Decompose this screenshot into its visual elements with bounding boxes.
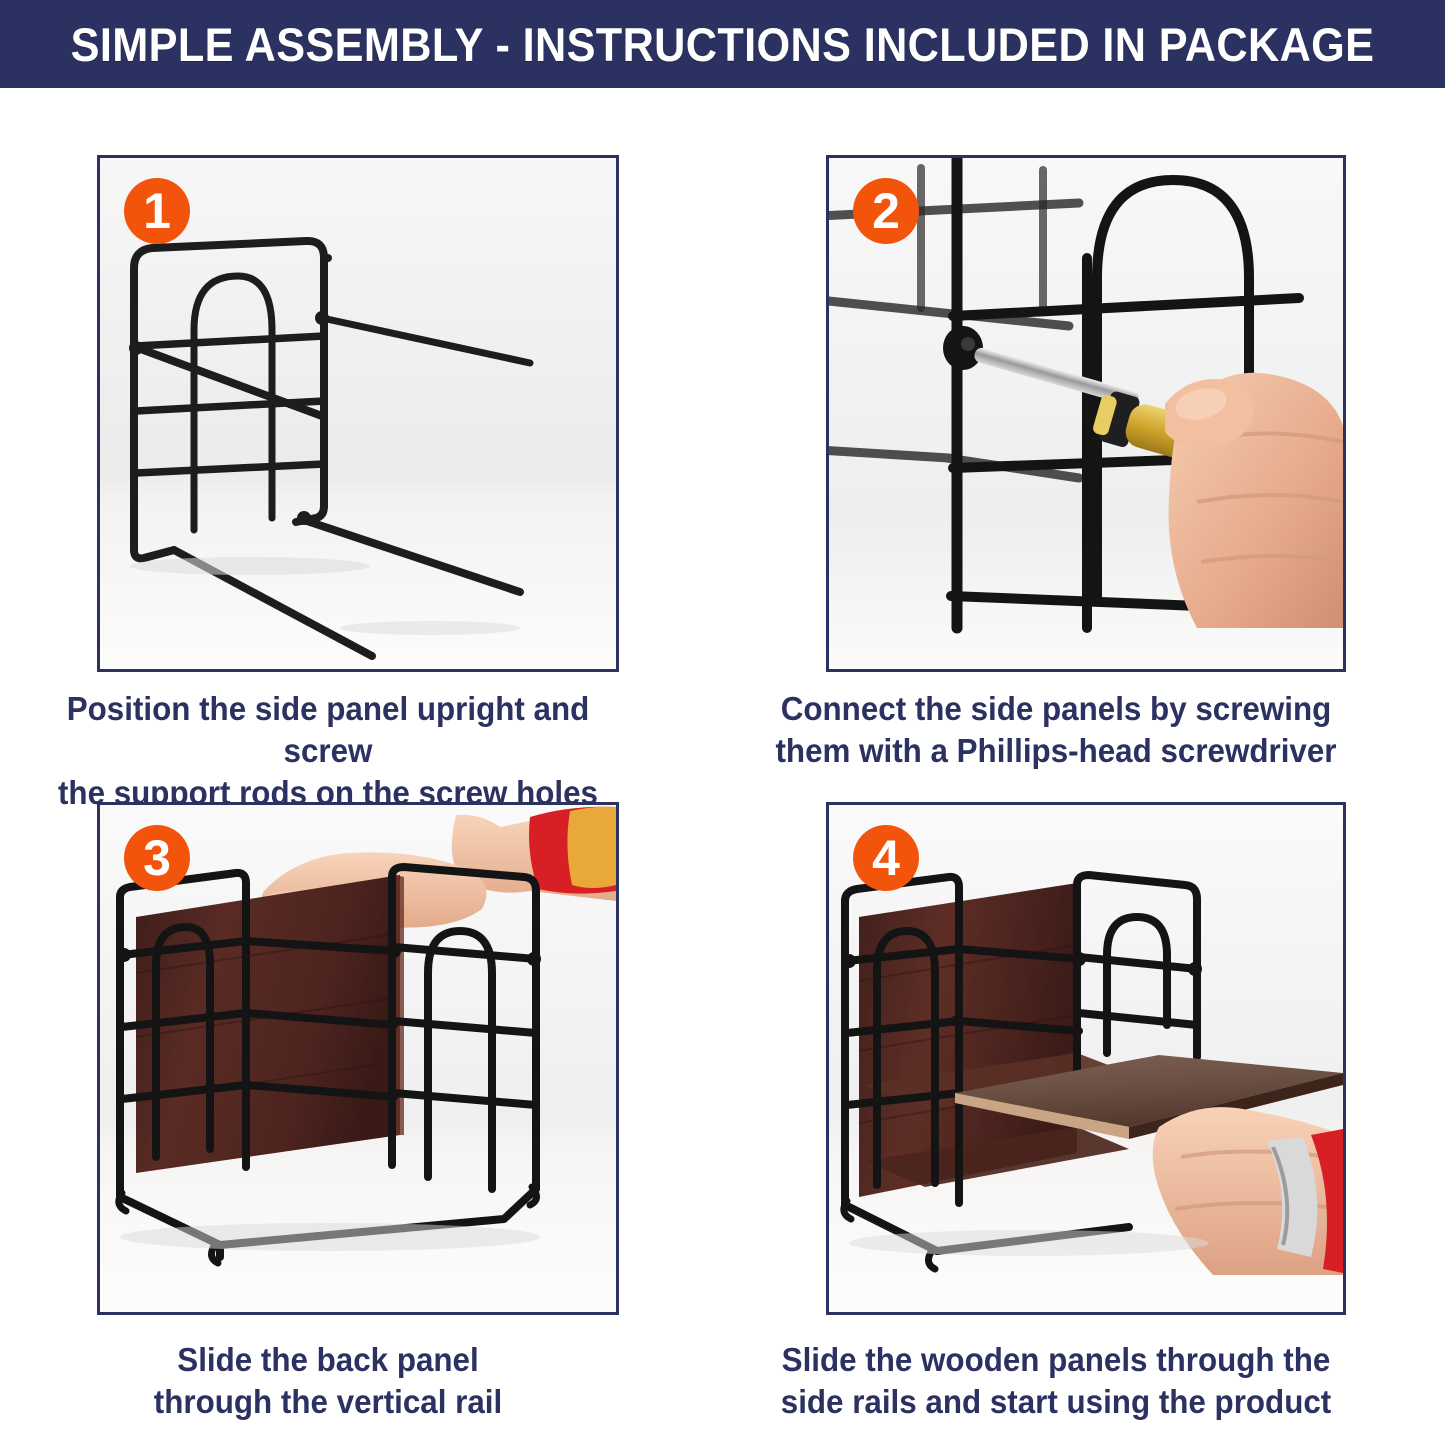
step-4-caption-line-2: side rails and start using the product: [752, 1381, 1360, 1423]
step-2-caption-line-1: Connect the side panels by screwing: [752, 688, 1360, 730]
step-4-caption: Slide the wooden panels through the side…: [752, 1339, 1360, 1423]
step-3-caption-line-2: through the vertical rail: [24, 1381, 632, 1423]
step-3-photo: 3: [97, 802, 619, 1315]
step-2-photo: 2: [826, 155, 1346, 672]
step-3: 3 Slide the back panel through the verti…: [97, 802, 619, 1423]
step-2-caption: Connect the side panels by screwing them…: [752, 688, 1360, 772]
step-4-caption-line-1: Slide the wooden panels through the: [752, 1339, 1360, 1381]
step-2-caption-line-2: them with a Phillips-head screwdriver: [752, 730, 1360, 772]
step-1-caption: Position the side panel upright and scre…: [24, 688, 632, 815]
step-1: 1 Position the side panel upright and sc…: [97, 155, 619, 815]
header-banner: SIMPLE ASSEMBLY - INSTRUCTIONS INCLUDED …: [0, 0, 1445, 88]
step-4-badge: 4: [853, 825, 919, 891]
step-2: 2 Connect the side panels by screwing th…: [826, 155, 1346, 772]
page-title: SIMPLE ASSEMBLY - INSTRUCTIONS INCLUDED …: [71, 17, 1375, 72]
step-3-badge: 3: [124, 825, 190, 891]
step-1-caption-line-1: Position the side panel upright and scre…: [24, 688, 632, 772]
step-4-photo: 4: [826, 802, 1346, 1315]
step-1-photo: 1: [97, 155, 619, 672]
step-2-badge: 2: [853, 178, 919, 244]
steps-grid: 1 Position the side panel upright and sc…: [0, 88, 1445, 1436]
step-4: 4 Slide the wooden panels through the si…: [826, 802, 1346, 1423]
step-3-caption-line-1: Slide the back panel: [24, 1339, 632, 1381]
step-3-caption: Slide the back panel through the vertica…: [24, 1339, 632, 1423]
step-1-badge: 1: [124, 178, 190, 244]
